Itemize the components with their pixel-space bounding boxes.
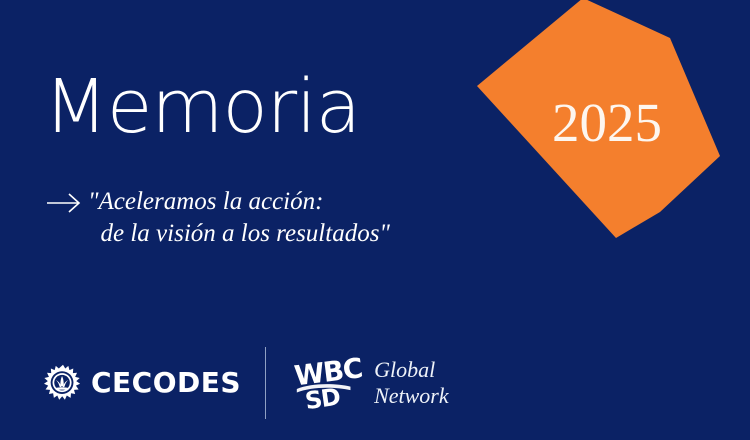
wbcsd-network-label: Global Network (374, 357, 449, 409)
cecodes-logo: CECODES (44, 359, 241, 407)
wbcsd-monogram-icon: WBC SD (293, 352, 365, 414)
cecodes-wordmark: CECODES (91, 369, 241, 397)
logo-divider (265, 347, 266, 419)
page-title: Memoria (44, 70, 360, 144)
tagline-text: "Aceleramos la acción: de la visión a lo… (88, 186, 390, 250)
cecodes-gear-leaf-icon (44, 364, 82, 402)
memoria-cover-page: 2025 Memoria "Aceleramos la acción: de l… (0, 0, 750, 440)
year-badge: 2025 (470, 0, 730, 244)
year-label: 2025 (470, 0, 730, 244)
tagline: "Aceleramos la acción: de la visión a lo… (46, 186, 390, 250)
arrow-right-icon (46, 192, 88, 218)
footer-logos: CECODES WBC SD Global Network (44, 352, 449, 414)
wbcsd-logo: WBC SD Global Network (293, 353, 449, 413)
